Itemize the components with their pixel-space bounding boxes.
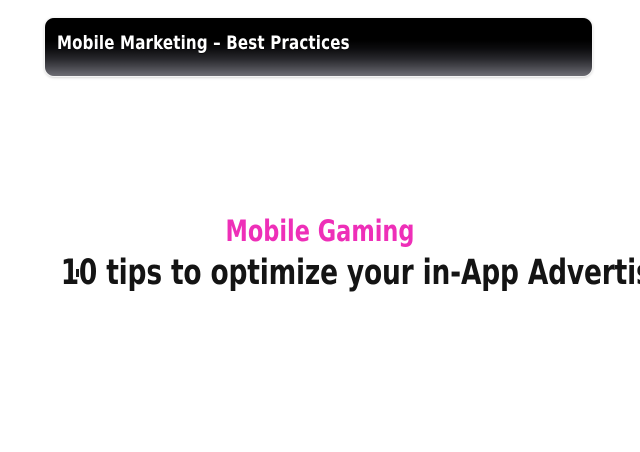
- slide-header-banner: Mobile Marketing – Best Practices: [45, 18, 592, 76]
- slide-subtitle-row: 10 tips to optimize your in-App Advertis…: [0, 253, 640, 293]
- presentation-slide: Mobile Marketing – Best Practices Mobile…: [0, 0, 640, 452]
- slide-lead-title: Mobile Gaming: [45, 214, 595, 248]
- slide-header-title: Mobile Marketing – Best Practices: [57, 34, 350, 53]
- slide-body: Mobile Gaming 10 tips to optimize your i…: [0, 214, 640, 293]
- slide-subtitle: 10 tips to optimize your in-App Advertis…: [61, 253, 640, 293]
